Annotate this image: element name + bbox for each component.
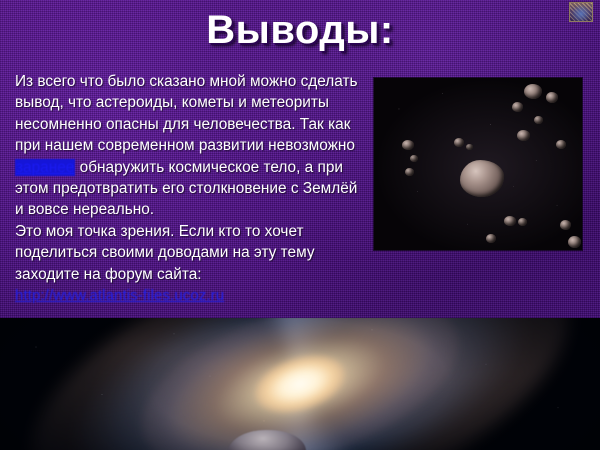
asteroid-rock (546, 92, 558, 103)
slide-title: Выводы: (0, 6, 600, 54)
galaxy-vignette (0, 318, 600, 450)
asteroid-rock (568, 236, 581, 248)
asteroid-rock (486, 234, 496, 243)
asteroid-field-photo (374, 78, 582, 250)
forum-url-link[interactable]: http://www.atlantis-files.ucoz.ru (15, 285, 367, 306)
asteroid-rock (402, 140, 414, 150)
asteroid-rock (517, 130, 530, 141)
spiral-galaxy-photo (0, 318, 600, 450)
asteroid-rock (512, 102, 523, 112)
asteroid-rock (454, 138, 464, 147)
paragraph-2-text: Это моя точка зрения. Если кто то хочет … (15, 223, 315, 283)
asteroid-rock (504, 216, 516, 226)
slide-body-text: Из всего что было сказано мной можно сде… (15, 71, 367, 306)
body-paragraph-2: Это моя точка зрения. Если кто то хочет … (15, 221, 367, 285)
asteroid-rock (524, 84, 542, 99)
corner-thumbnail-icon (569, 2, 593, 22)
paragraph-1-text: Из всего что было сказано мной можно сде… (15, 73, 358, 154)
asteroid-rock (405, 168, 414, 176)
inline-hyperlink[interactable]: заранее (15, 159, 75, 176)
asteroid-rock (518, 218, 527, 226)
presentation-slide: Выводы: Из всего что было сказано мной м… (0, 0, 600, 450)
asteroid-rock (466, 144, 473, 150)
asteroid-rock (560, 220, 571, 230)
asteroid-rock (534, 116, 543, 124)
asteroid-rock (410, 155, 418, 162)
asteroid-rock (556, 140, 566, 149)
body-paragraph-1: Из всего что было сказано мной можно сде… (15, 71, 367, 221)
